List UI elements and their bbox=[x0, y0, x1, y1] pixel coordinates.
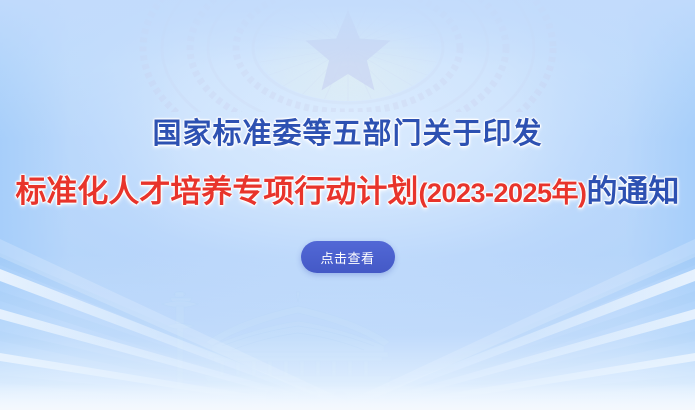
banner-title-plan-name: 标准化人才培养专项行动计划 bbox=[15, 174, 418, 209]
banner-content: 国家标准委等五部门关于印发 标准化人才培养专项行动计划(2023-2025年)的… bbox=[0, 0, 695, 410]
banner-title-suffix: 的通知 bbox=[587, 174, 680, 209]
banner-title-year-range: (2023-2025年) bbox=[418, 178, 586, 208]
notice-banner: 国家标准委等五部门关于印发 标准化人才培养专项行动计划(2023-2025年)的… bbox=[0, 0, 695, 410]
banner-title-line-1: 国家标准委等五部门关于印发 bbox=[152, 120, 542, 149]
click-to-view-button[interactable]: 点击查看 bbox=[301, 241, 395, 273]
banner-title-line-2: 标准化人才培养专项行动计划(2023-2025年)的通知 bbox=[15, 176, 679, 207]
